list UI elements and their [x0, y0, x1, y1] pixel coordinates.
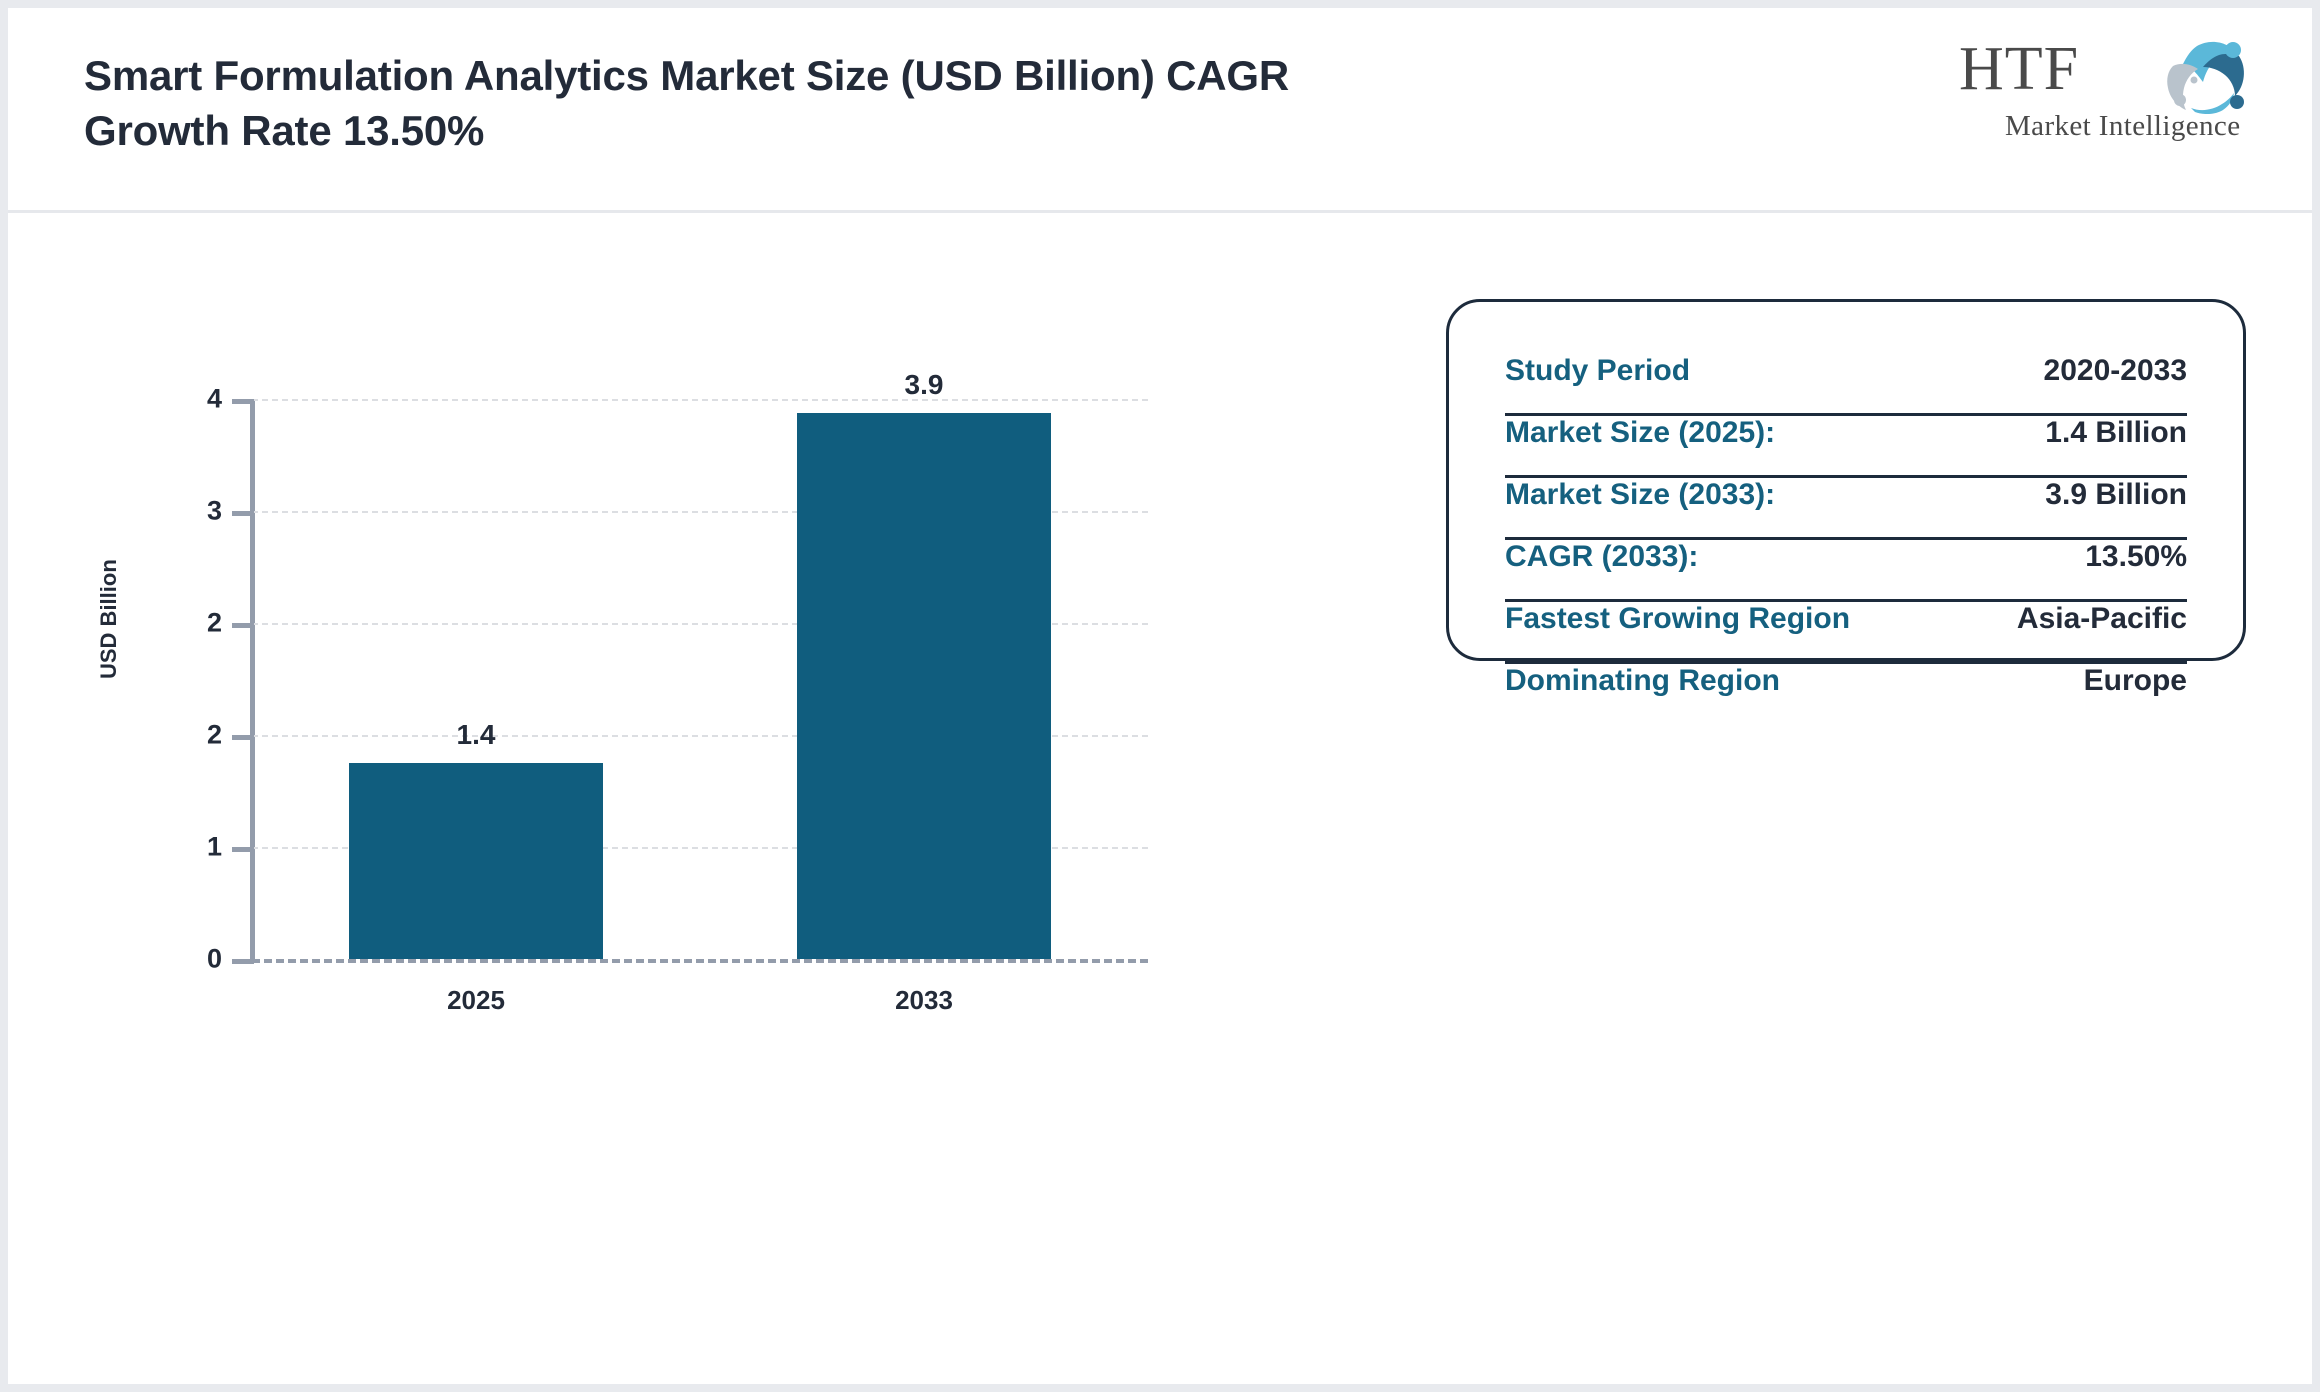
info-row: Market Size (2025):1.4 Billion [1505, 416, 2187, 478]
x-tick-label: 2025 [349, 985, 603, 1016]
info-row: Dominating RegionEurope [1505, 664, 2187, 726]
y-axis-title: USD Billion [96, 559, 122, 679]
header: Smart Formulation Analytics Market Size … [8, 8, 2312, 213]
htf-swirl-icon [2153, 36, 2257, 114]
y-tick-mark [232, 735, 254, 740]
logo-tagline: Market Intelligence [2005, 110, 2240, 143]
y-tick-label: 4 [174, 384, 222, 415]
logo-wordmark: HTF [1959, 38, 2079, 100]
info-row-value: Asia-Pacific [2017, 602, 2187, 636]
brand-logo: HTF Market Intelligence [1957, 36, 2257, 144]
y-tick-label: 1 [174, 832, 222, 863]
info-row-label: Study Period [1505, 354, 1690, 388]
info-row-label: Dominating Region [1505, 664, 1780, 698]
info-row-value: 3.9 Billion [2045, 478, 2187, 512]
y-tick-mark [232, 959, 254, 964]
info-row-label: CAGR (2033): [1505, 540, 1698, 574]
info-row: Market Size (2033):3.9 Billion [1505, 478, 2187, 540]
info-row-value: 13.50% [2085, 540, 2187, 574]
bar[interactable] [797, 413, 1051, 959]
bar-value-label: 3.9 [797, 369, 1051, 401]
info-row: CAGR (2033):13.50% [1505, 540, 2187, 602]
y-tick-mark [232, 623, 254, 628]
y-tick-mark [232, 511, 254, 516]
y-tick-label: 3 [174, 496, 222, 527]
info-row-value: 2020-2033 [2044, 354, 2187, 388]
bar[interactable] [349, 763, 603, 959]
y-tick-label: 2 [174, 720, 222, 751]
y-tick-label: 2 [174, 608, 222, 639]
info-row-label: Market Size (2025): [1505, 416, 1775, 450]
x-tick-label: 2033 [797, 985, 1051, 1016]
info-row-value: 1.4 Billion [2045, 416, 2187, 450]
info-row-label: Fastest Growing Region [1505, 602, 1850, 636]
plot-area [252, 399, 1148, 959]
page-title: Smart Formulation Analytics Market Size … [84, 48, 1404, 159]
y-tick-mark [232, 847, 254, 852]
info-row: Study Period2020-2033 [1505, 354, 2187, 416]
page-canvas: Smart Formulation Analytics Market Size … [8, 8, 2312, 1384]
bar-chart: USD Billion 4322101.420253.92033 [8, 213, 1208, 1384]
y-tick-label: 0 [174, 944, 222, 975]
y-tick-mark [232, 399, 254, 404]
market-summary-card: Study Period2020-2033Market Size (2025):… [1446, 299, 2246, 661]
info-row: Fastest Growing RegionAsia-Pacific [1505, 602, 2187, 664]
info-row-value: Europe [2084, 664, 2187, 698]
zero-line [252, 959, 1148, 963]
bar-value-label: 1.4 [349, 719, 603, 751]
info-row-label: Market Size (2033): [1505, 478, 1775, 512]
